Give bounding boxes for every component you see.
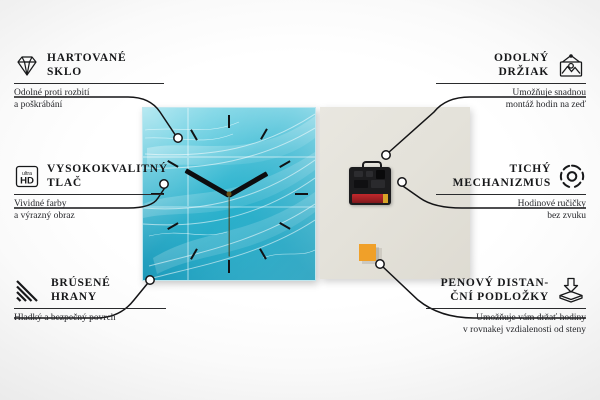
feature-head: BRÚSENÉ HRANY [14,277,166,304]
feature-divider [14,194,164,195]
product-clock-face [142,107,316,281]
feature-head: ultra HD VYSOKOKVALITNÝ TLAČ [14,163,164,190]
feature-desc: Hladký a bezpečný povrch [14,313,166,325]
clock-second-hand [228,195,229,257]
feature-divider [14,83,164,84]
foam-spacer-pad [359,244,376,261]
feature-desc: Umožňuje snadnou montáž hodin na zeď [436,88,586,111]
feature-silent-mechanism: TICHÝ MECHANIZMUS Hodinové ručičky bez z… [436,163,586,222]
feature-high-quality-print: ultra HD VYSOKOKVALITNÝ TLAČ Vividné far… [14,163,164,222]
feature-head: HARTOVANÉ SKLO [14,52,164,79]
gear-icon [558,163,586,190]
feature-title: PENOVÝ DISTAN- ČNÍ PODLOŽKY [441,277,549,304]
feature-title: VYSOKOKVALITNÝ TLAČ [47,163,168,190]
feature-durable-hanger: ODOLNÝ DRŽIAK Umožňuje snadnou montáž ho… [436,52,586,111]
feature-title: TICHÝ MECHANIZMUS [453,163,551,190]
feature-foam-spacers: PENOVÝ DISTAN- ČNÍ PODLOŽKY Umožňuje vám… [426,277,586,336]
feature-desc: Umožňuje vám držať hodiny v rovnakej vzd… [426,313,586,336]
infographic-canvas: HARTOVANÉ SKLO Odolné proti rozbití a po… [0,0,600,400]
mechanism-body [349,167,391,205]
battery [352,194,388,203]
hd-label: HD [20,176,34,187]
ultra-hd-icon: ultra HD [14,164,40,189]
clock-tick-12 [228,115,230,128]
diagonal-stripes-icon [14,278,44,304]
feature-divider [436,194,586,195]
clock-tick-6 [228,260,230,273]
clock-mechanism [349,161,391,205]
press-down-pad-icon [556,277,586,304]
feature-desc: Vividné farby a výrazný obraz [14,199,164,222]
feature-ground-edges: BRÚSENÉ HRANY Hladký a bezpečný povrch [14,277,166,325]
feature-divider [426,308,586,309]
feature-tempered-glass: HARTOVANÉ SKLO Odolné proti rozbití a po… [14,52,164,111]
feature-title: ODOLNÝ DRŽIAK [494,52,549,79]
feature-divider [436,83,586,84]
feature-head: PENOVÝ DISTAN- ČNÍ PODLOŽKY [426,277,586,304]
feature-head: ODOLNÝ DRŽIAK [436,52,586,79]
feature-divider [14,308,166,309]
feature-title: BRÚSENÉ HRANY [51,277,111,304]
picture-hanger-icon [556,53,586,79]
feature-title: HARTOVANÉ SKLO [47,52,126,79]
battery-terminal [383,194,388,203]
feature-desc: Hodinové ručičky bez zvuku [436,199,586,222]
feature-desc: Odolné proti rozbití a poškrábání [14,88,164,111]
clock-tick-3 [295,193,308,195]
clock-hand-hub [227,192,232,197]
feature-head: TICHÝ MECHANIZMUS [436,163,586,190]
diamond-icon [14,54,40,78]
